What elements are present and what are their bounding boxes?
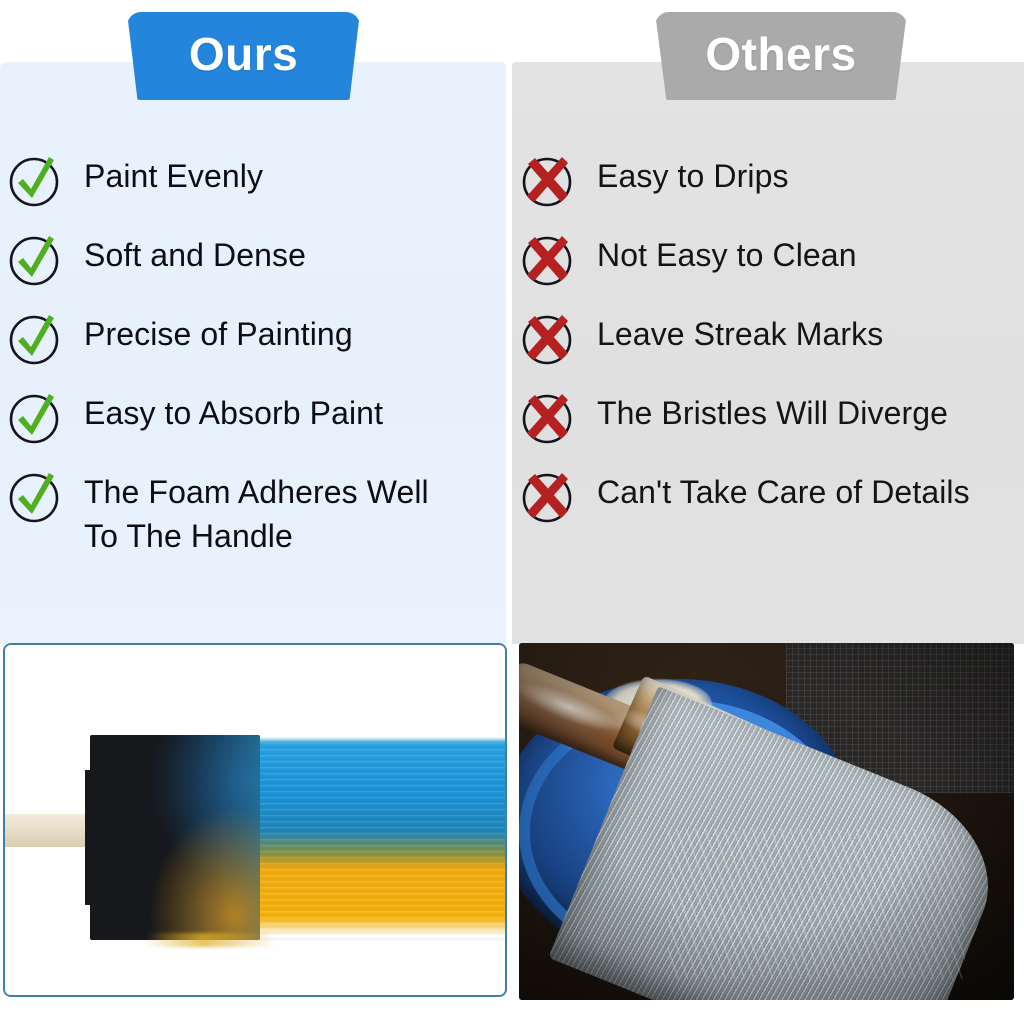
list-item: Soft and Dense	[8, 232, 488, 311]
others-product-photo	[519, 643, 1014, 1000]
list-item: Easy to Absorb Paint	[8, 390, 488, 469]
others-badge-label: Others	[705, 27, 856, 81]
list-item: Can't Take Care of Details	[521, 469, 1016, 548]
red-cross-icon	[521, 155, 573, 207]
ours-badge: Ours	[127, 12, 360, 100]
list-item: Paint Evenly	[8, 153, 488, 232]
list-item: The Bristles Will Diverge	[521, 390, 1016, 469]
foam-brush-handle	[5, 814, 97, 847]
list-item-label: Precise of Painting	[84, 311, 353, 356]
list-item-label: Not Easy to Clean	[597, 232, 857, 277]
red-cross-icon	[521, 234, 573, 286]
comparison-infographic: Ours Others Paint Evenly Soft and Den	[0, 0, 1024, 1024]
foam-brush-head	[90, 735, 260, 940]
others-feature-list: Easy to Drips Not Easy to Clean Leav	[521, 153, 1016, 548]
red-cross-icon	[521, 313, 573, 365]
list-item: Leave Streak Marks	[521, 311, 1016, 390]
list-item-label: Easy to Absorb Paint	[84, 390, 383, 435]
list-item-label: Easy to Drips	[597, 153, 789, 198]
red-cross-icon	[521, 392, 573, 444]
list-item-label: The Bristles Will Diverge	[597, 390, 948, 435]
list-item-label: The Foam Adheres Well To The Handle	[84, 469, 429, 558]
green-check-icon	[8, 313, 60, 365]
list-item-label: Leave Streak Marks	[597, 311, 883, 356]
photo-vignette	[519, 643, 1014, 1000]
green-check-icon	[8, 392, 60, 444]
green-check-icon	[8, 155, 60, 207]
green-check-icon	[8, 471, 60, 523]
list-item: Precise of Painting	[8, 311, 488, 390]
list-item-label: Soft and Dense	[84, 232, 306, 277]
list-item: Easy to Drips	[521, 153, 1016, 232]
list-item-label: Can't Take Care of Details	[597, 469, 970, 514]
ours-badge-label: Ours	[189, 27, 298, 81]
paint-stroke	[258, 737, 505, 942]
paint-smear	[145, 933, 275, 947]
others-badge: Others	[655, 12, 907, 100]
red-cross-icon	[521, 471, 573, 523]
list-item-label: Paint Evenly	[84, 153, 263, 198]
green-check-icon	[8, 234, 60, 286]
list-item: The Foam Adheres Well To The Handle	[8, 469, 488, 573]
list-item: Not Easy to Clean	[521, 232, 1016, 311]
ours-product-photo	[3, 643, 507, 997]
ours-feature-list: Paint Evenly Soft and Dense Precise of P…	[8, 153, 488, 573]
